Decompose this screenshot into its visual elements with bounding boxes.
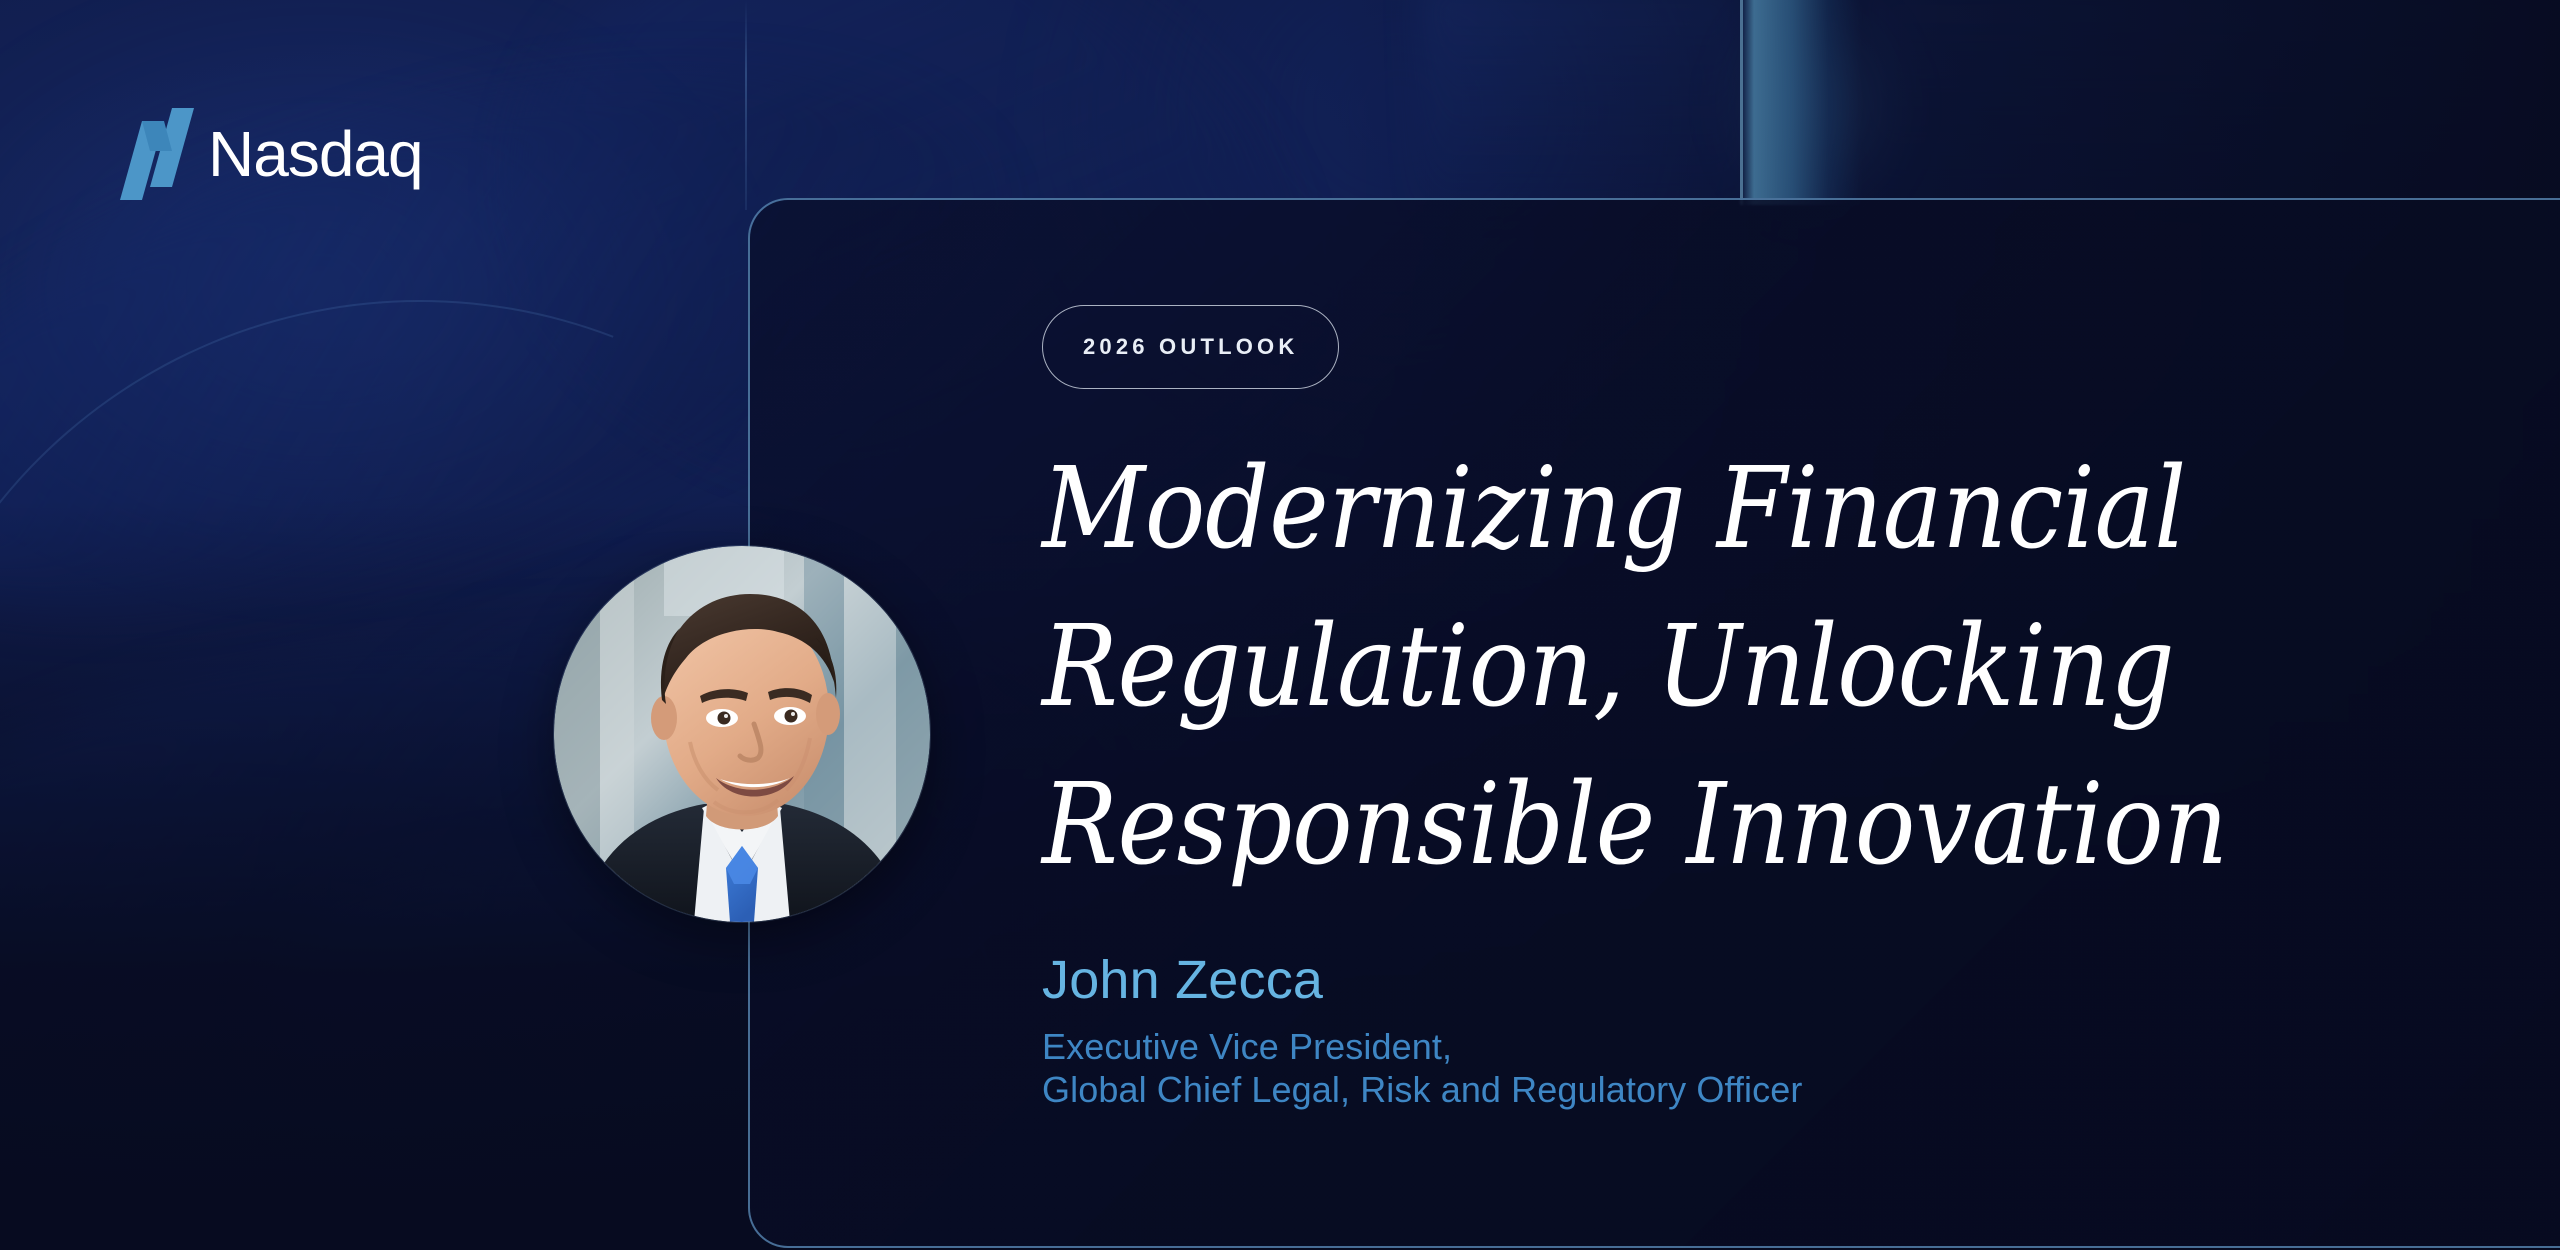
outlook-badge-label: 2026 OUTLOOK — [1083, 334, 1298, 360]
nasdaq-logo-icon — [120, 108, 194, 200]
speaker-name: John Zecca — [1042, 950, 1802, 1010]
speaker-role-line-2: Global Chief Legal, Risk and Regulatory … — [1042, 1069, 1802, 1111]
page-title-line-2: Regulation, Unlocking — [1042, 588, 2302, 746]
outlook-badge: 2026 OUTLOOK — [1042, 305, 1339, 389]
speaker-role-line-1: Executive Vice President, — [1042, 1026, 1802, 1068]
avatar-portrait — [554, 546, 930, 922]
speaker-portrait — [554, 546, 930, 922]
speaker-role: Executive Vice President, Global Chief L… — [1042, 1026, 1802, 1111]
nasdaq-wordmark: Nasdaq — [208, 122, 423, 186]
page-title: Modernizing Financial Regulation, Unlock… — [1042, 430, 2302, 904]
page-title-line-3: Responsible Innovation — [1042, 746, 2302, 904]
slide-canvas: Nasdaq — [0, 0, 2560, 1250]
nasdaq-logo[interactable]: Nasdaq — [120, 108, 423, 200]
page-title-line-1: Modernizing Financial — [1042, 430, 2302, 588]
speaker-block: John Zecca Executive Vice President, Glo… — [1042, 950, 1802, 1111]
